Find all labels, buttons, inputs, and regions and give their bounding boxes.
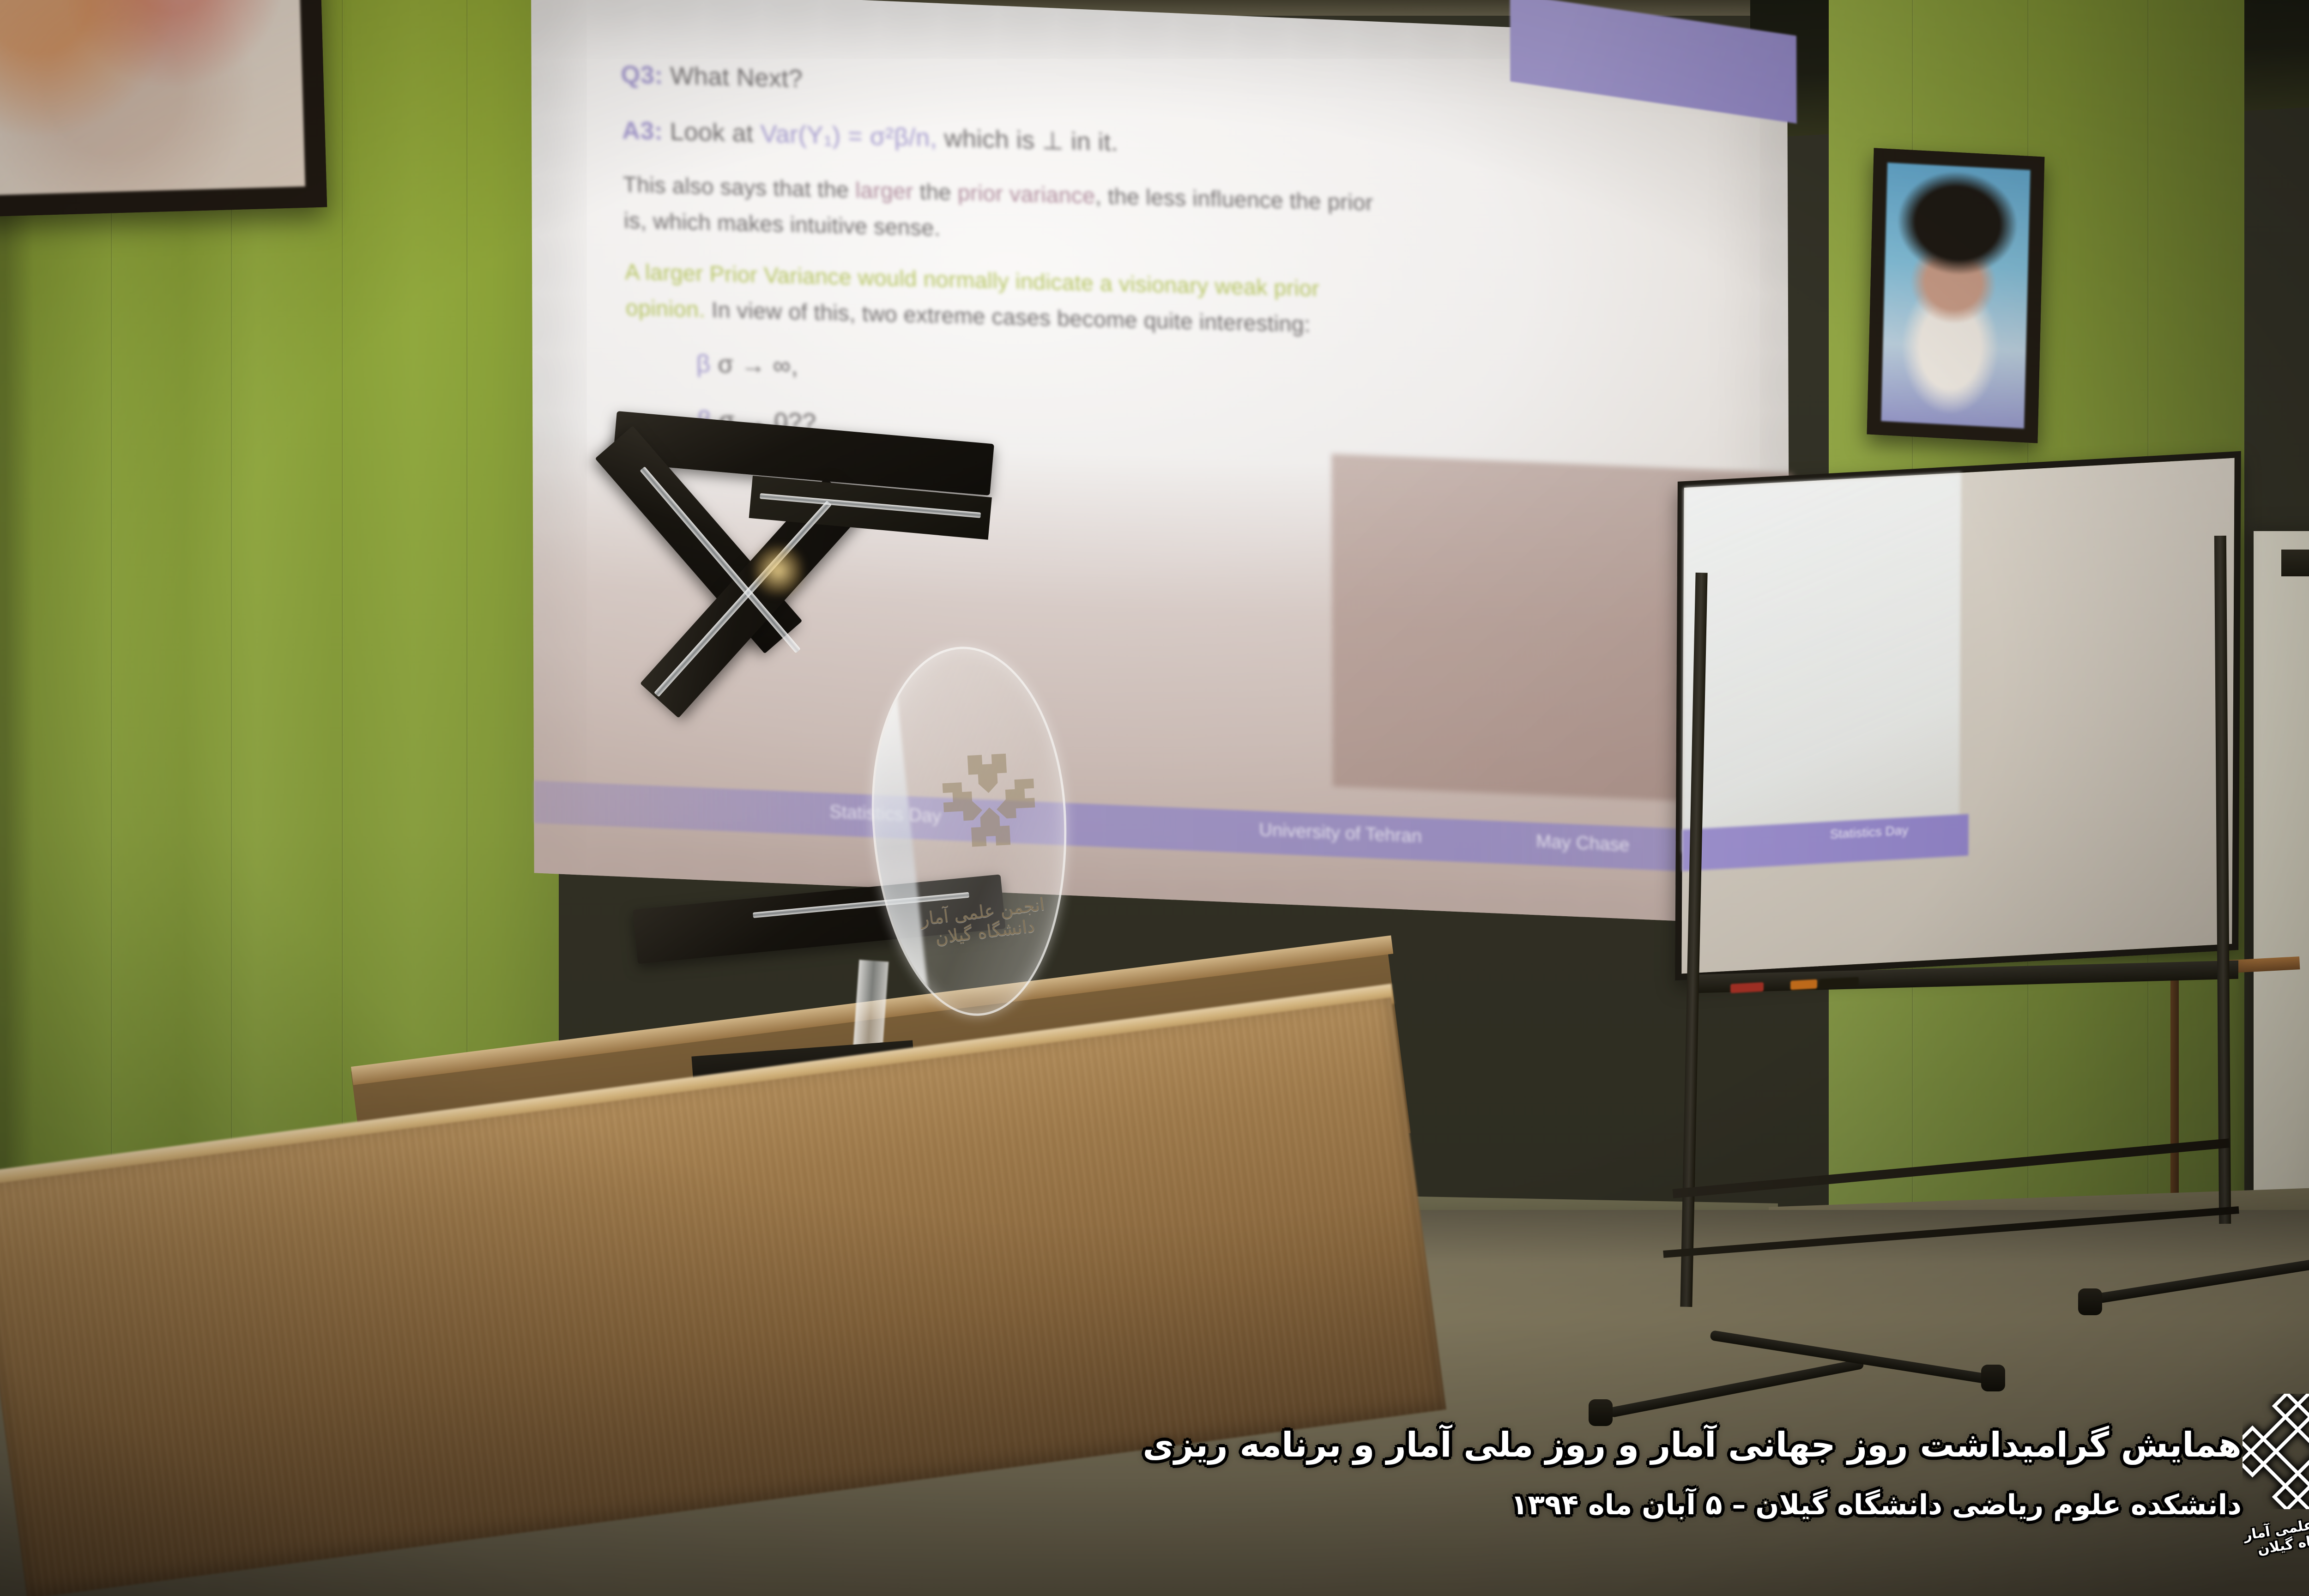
whiteboard-projector-spill — [1682, 473, 1961, 853]
slide-bullet1-text: σ → ∞, — [710, 350, 798, 380]
photo-scene: Q3: What Next? A3: Look at Var(Y₁) = σ²β… — [0, 0, 2309, 1596]
whiteboard-caster-2 — [1981, 1365, 2005, 1391]
girih-knot-logo-icon — [925, 732, 1052, 868]
slide-bullet1-marker: β — [696, 350, 711, 378]
caption-overlay: همایش گرامیداشت روز جهانی آمار و روز ملی… — [1142, 1419, 2242, 1527]
slide-q3-text: What Next? — [663, 61, 803, 92]
caption-line-2: دانشکده علوم ریاضی دانشگاه گیلان – ۵ آبا… — [1142, 1484, 2242, 1527]
whiteboard-caster-3 — [2078, 1288, 2102, 1315]
medallion-engraved-text: انجمن علمی آمار دانشگاه گیلان — [906, 892, 1062, 951]
trophy-light-glint — [753, 545, 804, 596]
side-table-leg — [2170, 970, 2179, 1228]
slide-line6-green: opinion. — [625, 296, 705, 322]
slide-line4: is, which makes intuitive sense. — [623, 208, 941, 241]
girih-knot-logo-icon — [2243, 1394, 2309, 1509]
slide-line3-em2: prior variance — [957, 181, 1095, 208]
slide-line3-c: , the less influence the prior — [1095, 184, 1373, 215]
air-conditioner-unit — [2254, 531, 2309, 1224]
framed-picture-left — [0, 0, 327, 218]
slide-line3-a: This also says that the — [623, 172, 856, 202]
marker-orange — [1790, 979, 1817, 990]
marker-red — [1730, 982, 1764, 993]
watermark-text: انجمن علمی آمار دانشگاه گیلان — [2239, 1509, 2309, 1560]
slide-line3-b: the — [913, 180, 958, 205]
ac-vent-top — [2281, 550, 2309, 576]
caption-line-1: همایش گرامیداشت روز جهانی آمار و روز ملی… — [1142, 1419, 2242, 1472]
slide-text-block: Q3: What Next? A3: Look at Var(Y₁) = σ²β… — [620, 54, 1690, 465]
whiteboard: Statistics Day — [1675, 451, 2241, 980]
slide-line3-em1: larger — [855, 178, 914, 204]
slide-a3-text: Look at — [663, 118, 761, 148]
slide-footer-right: May Chase — [1536, 831, 1629, 855]
slide-a3-formula: Var(Y₁) = σ²β/n, — [760, 120, 937, 152]
association-watermark: انجمن علمی آمار دانشگاه گیلان — [2243, 1394, 2309, 1555]
framed-portrait-right — [1867, 148, 2045, 443]
slide-a3-tag: A3: — [622, 117, 663, 145]
portrait-image — [1881, 163, 2030, 429]
framed-picture-artwork — [0, 0, 305, 196]
trophy-glass-medallion: انجمن علمی آمار دانشگاه گیلان — [863, 642, 1076, 1021]
whiteboard-surface: Statistics Day — [1675, 451, 2241, 980]
slide-q3-tag: Q3: — [621, 60, 664, 89]
slide-a3-tail: which is ⊥ in it. — [937, 124, 1118, 157]
